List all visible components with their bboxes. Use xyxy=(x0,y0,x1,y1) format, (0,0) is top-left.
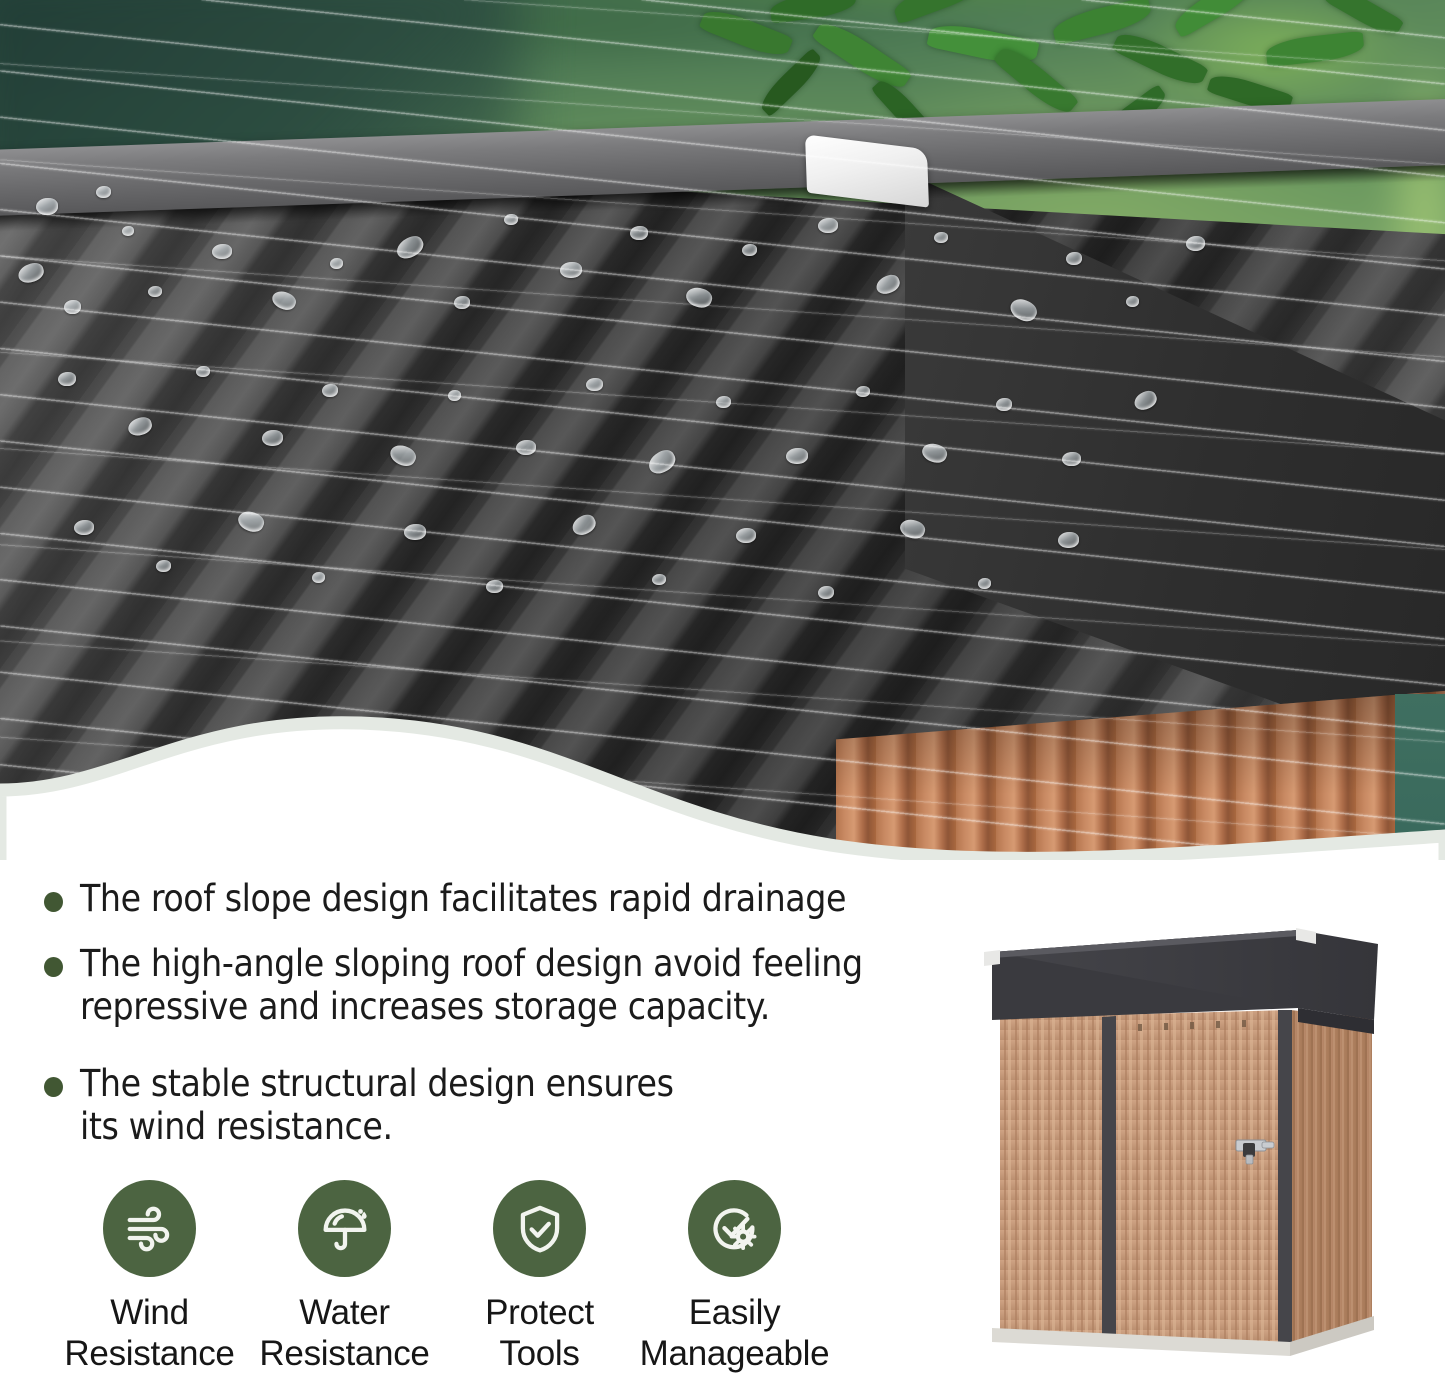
bullet-text: The stable structural design ensures its… xyxy=(80,1063,720,1149)
feature-protect-tools: ProtectTools xyxy=(442,1180,637,1375)
list-item: The high-angle sloping roof design avoid… xyxy=(44,943,944,1029)
shed-side-wall xyxy=(1290,1010,1372,1346)
feature-wind-resistance: WindResistance xyxy=(52,1180,247,1375)
wind-icon xyxy=(123,1202,177,1256)
product-feature-image: The roof slope design facilitates rapid … xyxy=(0,0,1445,1380)
feature-label: ProtectTools xyxy=(485,1293,594,1375)
feature-water-resistance: WaterResistance xyxy=(247,1180,442,1375)
bullet-text: The high-angle sloping roof design avoid… xyxy=(80,943,944,1029)
feature-badge-row: WindResistance WaterResistance xyxy=(52,1180,882,1375)
corner-trim-right xyxy=(1278,1010,1292,1346)
shed-door xyxy=(1112,1012,1250,1340)
roof-corner-cap-left xyxy=(984,950,1000,966)
bullet-dot-icon xyxy=(44,1077,63,1097)
gear-check-icon xyxy=(708,1202,762,1256)
door-frame-strip xyxy=(1102,1016,1116,1337)
feature-icon-circle xyxy=(103,1180,196,1277)
shield-check-icon xyxy=(513,1202,567,1256)
bullet-text: The roof slope design facilitates rapid … xyxy=(80,878,846,921)
product-shed-image xyxy=(960,900,1380,1380)
list-item: The roof slope design facilitates rapid … xyxy=(44,878,944,921)
feature-label: EasilyManageable xyxy=(640,1293,830,1375)
feature-icon-circle xyxy=(493,1180,586,1277)
benefit-bullet-list: The roof slope design facilitates rapid … xyxy=(44,878,944,1171)
umbrella-rain-icon xyxy=(318,1202,372,1256)
list-item: The stable structural design ensures its… xyxy=(44,1063,944,1149)
feature-easily-manageable: EasilyManageable xyxy=(637,1180,832,1375)
feature-label: WindResistance xyxy=(64,1293,234,1375)
feature-icon-circle xyxy=(298,1180,391,1277)
bullet-dot-icon xyxy=(44,892,63,912)
bullet-dot-icon xyxy=(44,957,63,977)
feature-label: WaterResistance xyxy=(259,1293,429,1375)
feature-icon-circle xyxy=(688,1180,781,1277)
